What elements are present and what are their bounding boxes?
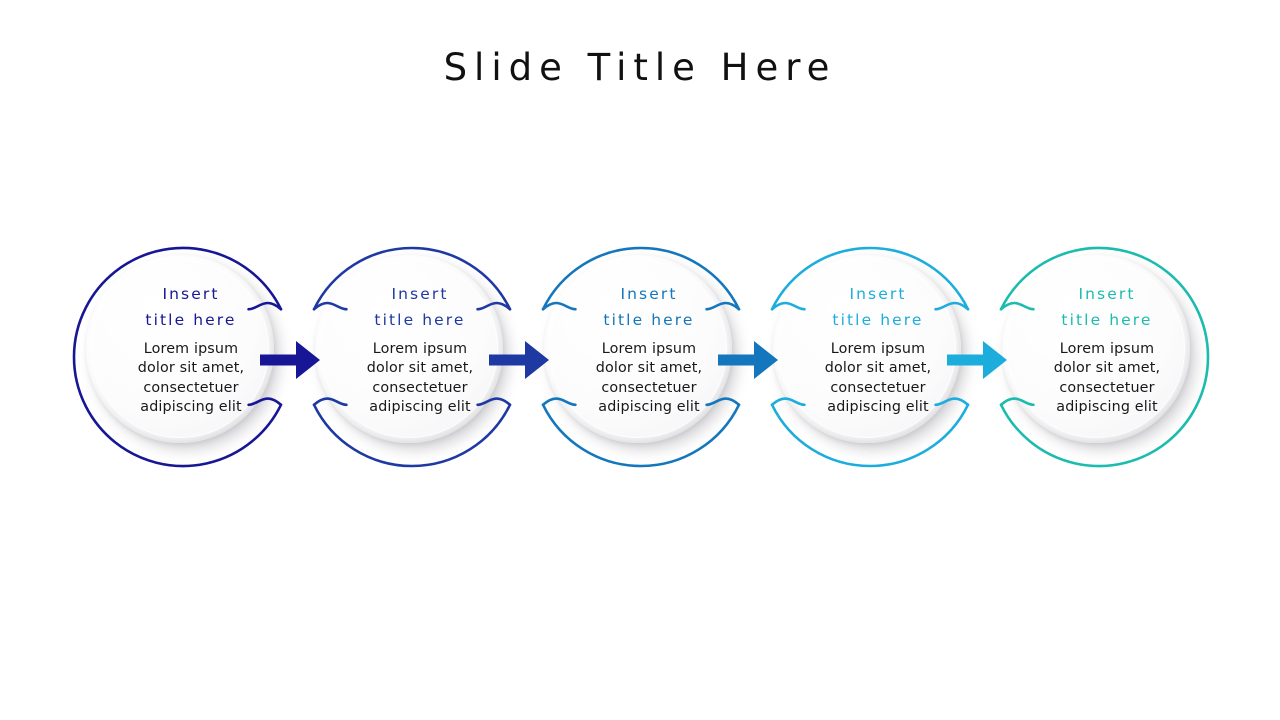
slide-canvas: Slide Title Here Insert title hereLorem …: [0, 0, 1280, 720]
step-title: Insert title here: [374, 281, 465, 333]
step-text-block: Insert title hereLorem ipsum dolor sit a…: [1002, 255, 1190, 443]
step-title: Insert title here: [603, 281, 694, 333]
step-text-block: Insert title hereLorem ipsum dolor sit a…: [544, 255, 732, 443]
process-arrow-2: [489, 337, 563, 383]
step-title: Insert title here: [1061, 281, 1152, 333]
process-diagram: Insert title hereLorem ipsum dolor sit a…: [0, 0, 1280, 720]
arrow-glyph-icon: [718, 341, 778, 379]
step-text-block: Insert title hereLorem ipsum dolor sit a…: [315, 255, 503, 443]
step-title: Insert title here: [145, 281, 236, 333]
step-title: Insert title here: [832, 281, 923, 333]
step-body: Lorem ipsum dolor sit amet, consectetuer…: [367, 340, 473, 418]
arrow-glyph-icon: [489, 341, 549, 379]
arrow-glyph-icon: [260, 341, 320, 379]
step-body: Lorem ipsum dolor sit amet, consectetuer…: [825, 340, 931, 418]
step-text-block: Insert title hereLorem ipsum dolor sit a…: [773, 255, 961, 443]
process-arrow-4: [947, 337, 1021, 383]
step-text-block: Insert title hereLorem ipsum dolor sit a…: [86, 255, 274, 443]
step-body: Lorem ipsum dolor sit amet, consectetuer…: [596, 340, 702, 418]
process-arrow-3: [718, 337, 792, 383]
arrow-glyph-icon: [947, 341, 1007, 379]
step-body: Lorem ipsum dolor sit amet, consectetuer…: [138, 340, 244, 418]
step-body: Lorem ipsum dolor sit amet, consectetuer…: [1054, 340, 1160, 418]
process-arrow-1: [260, 337, 334, 383]
